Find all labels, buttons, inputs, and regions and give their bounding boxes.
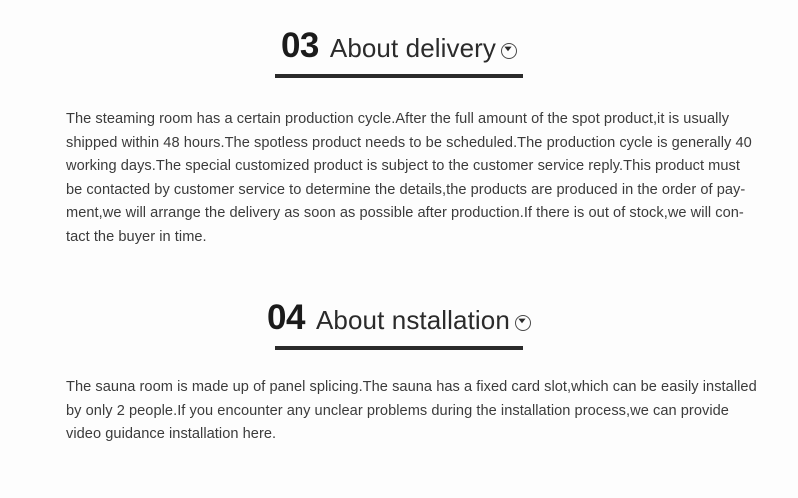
section-body-installation: The sauna room is made up of panel splic… [66, 376, 732, 447]
heading-line: 04 About nstallation [0, 300, 798, 335]
paragraph-line: working days.The special customized prod… [66, 155, 732, 179]
paragraph-line: The steaming room has a certain producti… [66, 108, 732, 132]
section-title: About delivery [330, 35, 496, 61]
paragraph-line: ment,we will arrange the delivery as soo… [66, 202, 732, 226]
section-body-delivery: The steaming room has a certain producti… [66, 108, 732, 250]
heading-underline-rule [275, 346, 523, 350]
section-heading-delivery: 03 About delivery [0, 28, 798, 78]
section-number: 03 [281, 28, 319, 63]
section-number: 04 [267, 300, 305, 335]
chevron-down-circle-icon [501, 43, 517, 59]
paragraph-line: be contacted by customer service to dete… [66, 179, 732, 203]
product-description-page: 03 About delivery The steaming room has … [0, 0, 798, 498]
paragraph-line: tact the buyer in time. [66, 226, 732, 250]
section-heading-installation: 04 About nstallation [0, 300, 798, 350]
paragraph-line: The sauna room is made up of panel splic… [66, 376, 732, 400]
heading-line: 03 About delivery [0, 28, 798, 63]
section-title: About nstallation [316, 307, 510, 333]
paragraph-line: by only 2 people.If you encounter any un… [66, 400, 732, 424]
heading-underline-rule [275, 74, 523, 78]
paragraph-line: shipped within 48 hours.The spotless pro… [66, 132, 732, 156]
chevron-down-circle-icon [515, 315, 531, 331]
paragraph-line: video guidance installation here. [66, 423, 732, 447]
